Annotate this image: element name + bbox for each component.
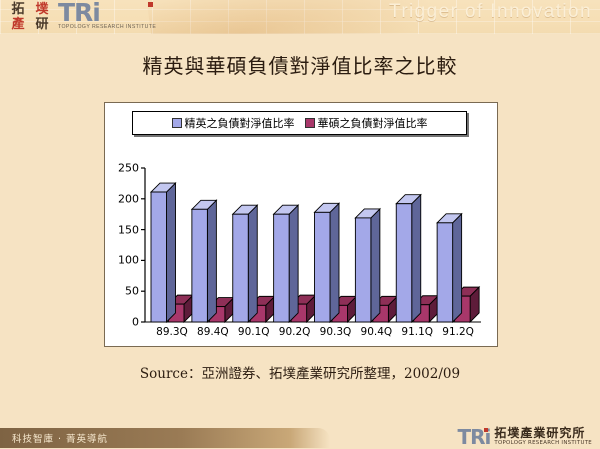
bar-jingying-91.1Q [396,195,421,322]
footer-logo-en-name: TOPOLOGY RESEARCH INSTITUTE [494,441,592,446]
footer-logo-dot-icon [484,428,488,432]
y-axis-tick-label: 0 [105,316,139,329]
bar-jingying-90.3Q [315,203,340,322]
bar-jingying-90.4Q [355,209,380,322]
logo-char-3: 產 [6,17,30,32]
bar-jingying-91.2Q [437,214,462,322]
brand-logo-header: 拓 墣 產 研 TRi TOPOLOGY RESEARCH INSTITUTE [6,2,156,32]
brand-logo-acronym: TRi [58,2,156,24]
x-axis-category-label: 90.4Q [361,326,393,338]
y-axis-tick-label: 100 [105,254,139,267]
x-axis-category-label: 90.1Q [238,326,270,338]
bar-jingying-89.4Q [192,200,217,322]
footer-slogan: 科技智庫 · 菁英導航 [12,431,108,445]
footer-logo-names: 拓墣產業研究所 TOPOLOGY RESEARCH INSTITUTE [494,427,592,446]
chart-container: 精英之負債對淨值比率華碩之負債對淨值比率 05010015020025089.3… [104,102,498,347]
x-axis-category-label: 90.2Q [279,326,311,338]
bar-jingying-89.3Q [151,183,176,322]
brand-logo-acronym-block: TRi TOPOLOGY RESEARCH INSTITUTE [58,2,156,30]
brand-logo-subtitle: TOPOLOGY RESEARCH INSTITUTE [58,24,156,30]
x-axis-category-label: 90.3Q [320,326,352,338]
brand-logo-chinese-block: 拓 墣 產 研 [6,2,54,32]
x-axis-category-label: 91.2Q [442,326,474,338]
footer-left-bar: 科技智庫 · 菁英導航 [0,428,330,448]
x-axis-category-label: 89.4Q [197,326,229,338]
logo-char-4: 研 [30,17,54,32]
source-note: Source：亞洲證券、拓墣產業研究所整理，2002/09 [0,362,600,382]
logo-char-2: 墣 [30,2,54,17]
footer-logo-cn-name: 拓墣產業研究所 [494,427,592,439]
page-title: 精英與華碩負債對淨值比率之比較 [0,50,600,79]
x-axis-category-label: 89.3Q [156,326,188,338]
bar-jingying-90.1Q [233,205,258,322]
logo-char-1: 拓 [6,2,30,17]
header-tagline: Trigger of Innovation [389,1,592,23]
y-axis-tick-label: 50 [105,285,139,298]
y-axis-tick-label: 150 [105,223,139,236]
bar-jingying-90.2Q [274,205,299,322]
chart-plot-area [105,103,497,346]
footer-band: 科技智庫 · 菁英導航 TRi 拓墣產業研究所 TOPOLOGY RESEARC… [0,422,600,448]
y-axis-tick-label: 200 [105,192,139,205]
footer-logo-acronym: TRi [457,429,490,446]
brand-logo-dot-icon [148,2,153,7]
x-axis-category-label: 91.1Q [401,326,433,338]
brand-logo-footer: TRi 拓墣產業研究所 TOPOLOGY RESEARCH INSTITUTE [457,427,592,446]
y-axis-tick-label: 250 [105,162,139,175]
